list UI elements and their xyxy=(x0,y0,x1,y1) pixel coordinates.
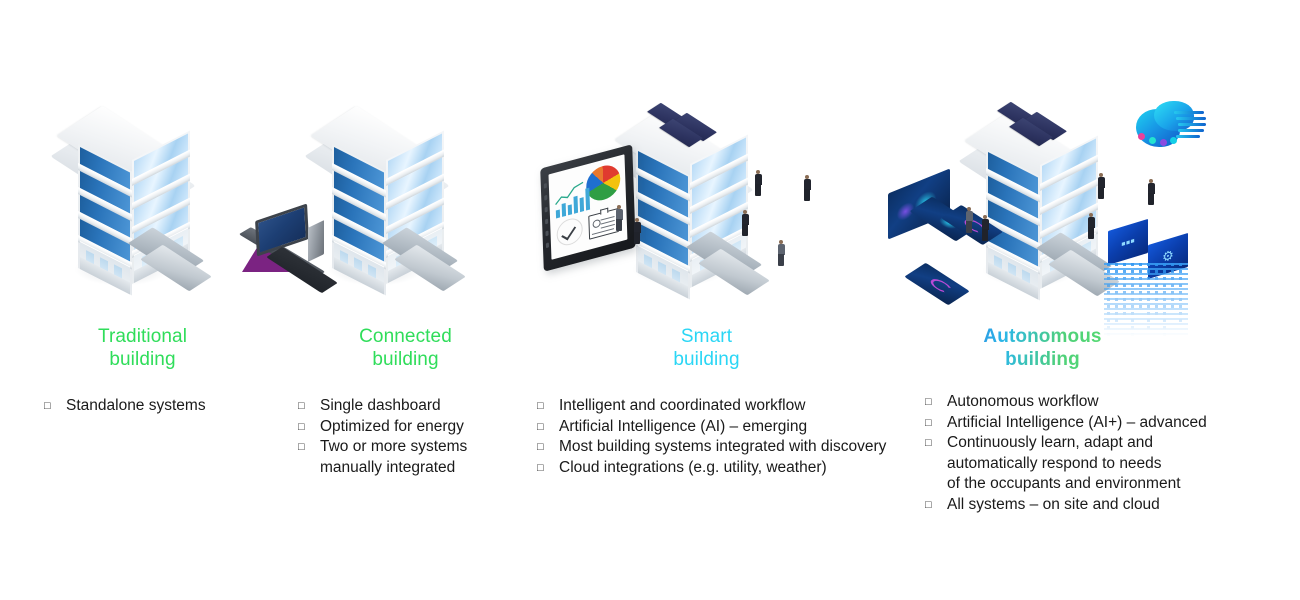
list-item: □ Artificial Intelligence (AI) – emergin… xyxy=(537,417,937,438)
illustration-traditional xyxy=(62,100,242,290)
bullet-icon: □ xyxy=(298,437,320,458)
gear-glyph-icon: ⚙ xyxy=(1162,248,1174,265)
building-smart xyxy=(630,104,760,294)
bullet-icon: □ xyxy=(925,392,947,413)
facade-left xyxy=(986,149,1040,301)
building-connected xyxy=(326,100,456,290)
bullets-smart: □ Intelligent and coordinated workflow □… xyxy=(537,396,937,478)
person-figure xyxy=(632,218,642,244)
bullet-icon: □ xyxy=(44,396,66,417)
list-item: □ Intelligent and coordinated workflow xyxy=(537,396,937,417)
facade-left xyxy=(332,144,386,296)
person-figure xyxy=(1146,179,1156,211)
list-item: □ Continuously learn, adapt and automati… xyxy=(925,433,1275,495)
person-figure xyxy=(964,207,974,239)
bullet-icon: □ xyxy=(537,437,559,458)
bullet-icon: □ xyxy=(925,495,947,516)
person-figure xyxy=(614,205,624,235)
person-figure xyxy=(1086,213,1096,241)
hologram-screen: ▪▪▪ xyxy=(1108,219,1148,265)
bullets-autonomous: □ Autonomous workflow □ Artificial Intel… xyxy=(925,392,1275,515)
bullet-icon: □ xyxy=(298,396,320,417)
chart-glyph-icon: ▪▪▪ xyxy=(1121,233,1135,250)
list-item: □ Optimized for energy xyxy=(298,417,513,438)
facade-left xyxy=(636,148,690,300)
heading-smart: Smart building xyxy=(624,325,789,371)
building-traditional xyxy=(72,100,202,290)
heading-traditional: Traditional building xyxy=(60,325,225,371)
person-figure xyxy=(776,240,786,270)
bullet-icon: □ xyxy=(298,417,320,438)
bullet-icon: □ xyxy=(925,413,947,434)
person-figure xyxy=(802,175,812,205)
list-item: □ Most building systems integrated with … xyxy=(537,437,937,458)
illustration-connected xyxy=(248,100,488,290)
list-item: □ Autonomous workflow xyxy=(925,392,1275,413)
diagram-canvas: Traditional building □ Standalone system… xyxy=(0,0,1300,600)
heading-connected: Connected building xyxy=(323,325,488,371)
person-figure xyxy=(740,210,750,238)
list-item: □ Two or more systems manually integrate… xyxy=(298,437,513,478)
bullet-icon: □ xyxy=(537,458,559,479)
building-autonomous xyxy=(980,105,1110,295)
list-item: □ Standalone systems xyxy=(44,396,279,417)
checkmark-icon xyxy=(556,216,583,249)
list-item: □ Artificial Intelligence (AI+) – advanc… xyxy=(925,413,1275,434)
bullet-icon: □ xyxy=(925,433,947,454)
ai-brain-icon xyxy=(1136,101,1210,153)
pie-chart-icon xyxy=(586,162,621,205)
server-tower xyxy=(308,220,324,262)
bullets-traditional: □ Standalone systems xyxy=(44,396,279,417)
ai-data-panel xyxy=(904,263,969,306)
bullets-connected: □ Single dashboard □ Optimized for energ… xyxy=(298,396,513,478)
illustration-autonomous: ▪▪▪ ⚙ xyxy=(880,95,1220,335)
facade-left xyxy=(78,144,132,296)
bullet-icon: □ xyxy=(537,396,559,417)
list-item: □ All systems – on site and cloud xyxy=(925,495,1275,516)
bullet-icon: □ xyxy=(537,417,559,438)
person-figure xyxy=(753,170,763,200)
person-figure xyxy=(1096,173,1106,203)
list-item: □ Cloud integrations (e.g. utility, weat… xyxy=(537,458,937,479)
heading-autonomous: Autonomous building xyxy=(955,325,1130,371)
illustration-smart xyxy=(540,100,840,295)
person-figure xyxy=(980,215,990,245)
list-item: □ Single dashboard xyxy=(298,396,513,417)
